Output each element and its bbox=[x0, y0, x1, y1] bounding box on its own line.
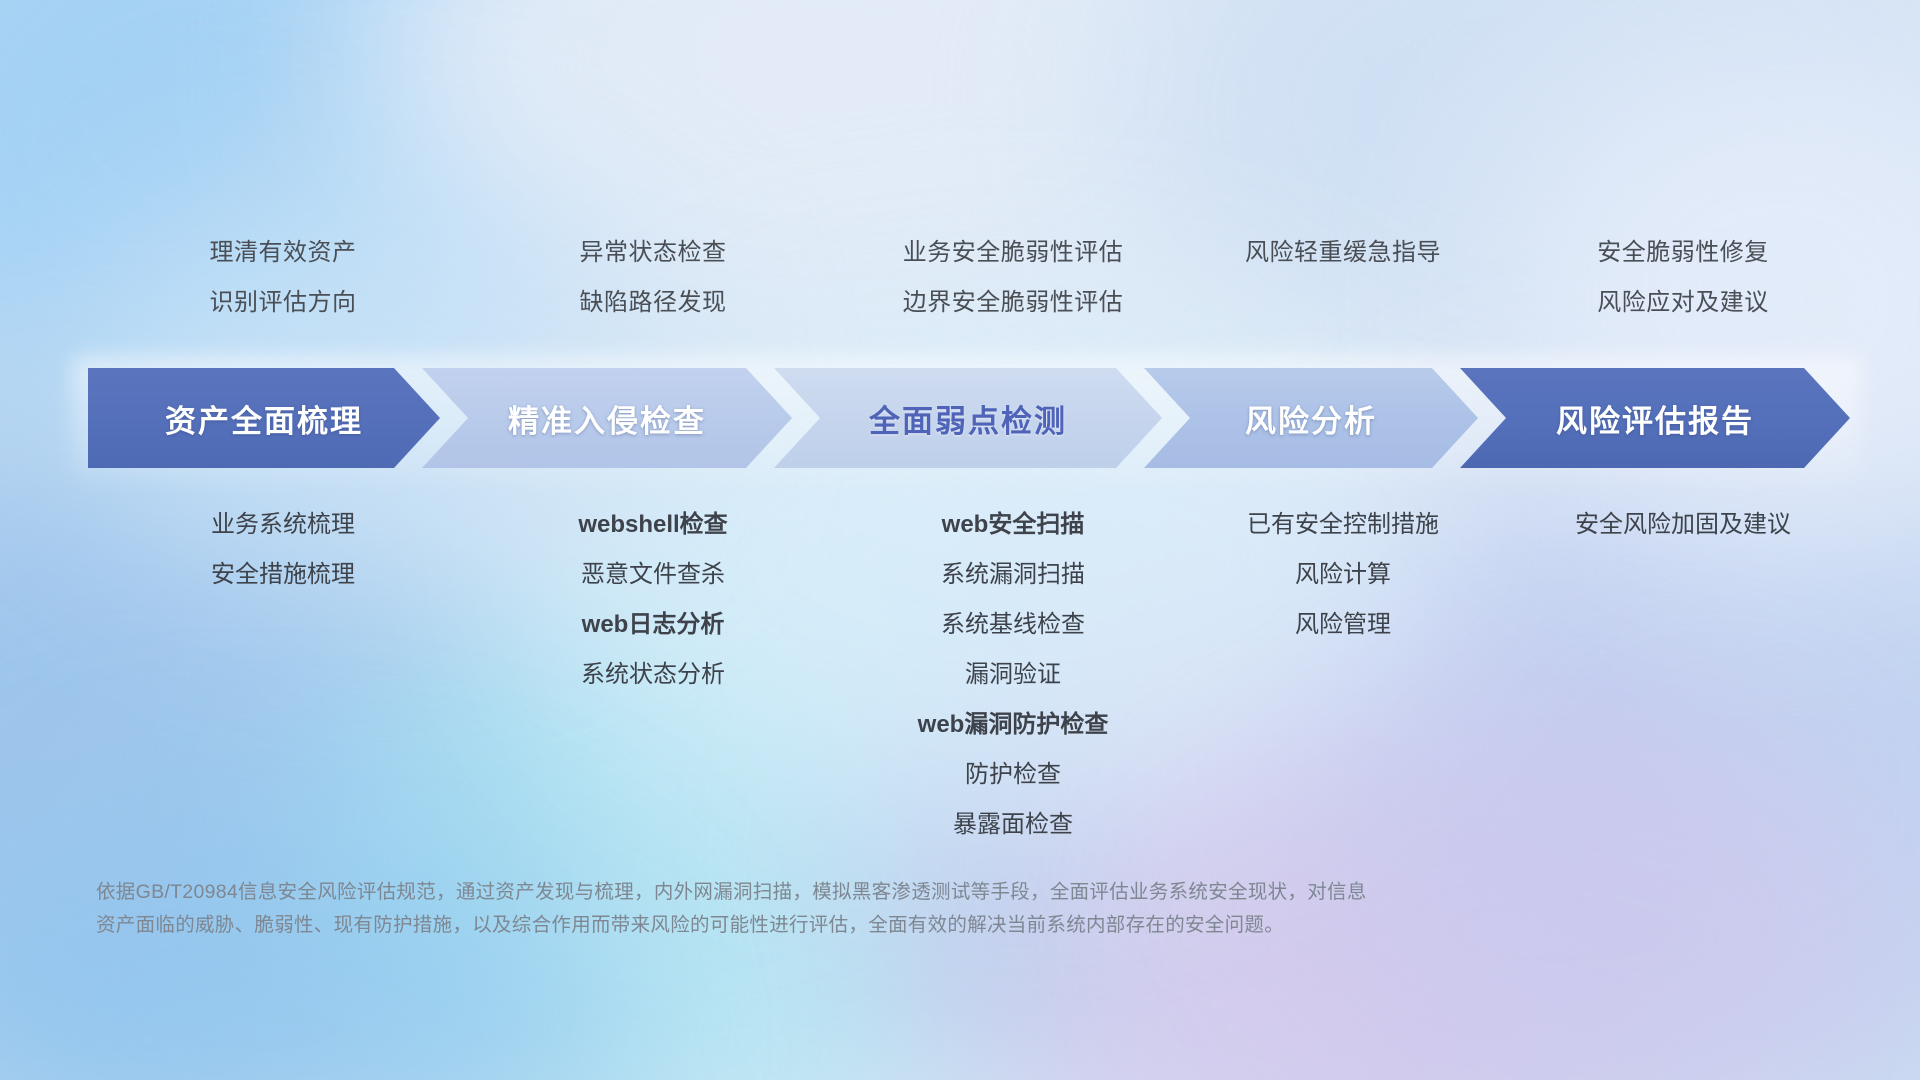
list-item: 系统基线检查 bbox=[828, 600, 1198, 650]
stage-label: 精准入侵检查 bbox=[508, 396, 706, 441]
top-caption: 业务安全脆弱性评估 bbox=[828, 228, 1198, 278]
top-captions-stage-4: 风险轻重缓急指导 bbox=[1198, 228, 1488, 328]
top-captions-stage-5: 安全脆弱性修复 风险应对及建议 bbox=[1488, 228, 1878, 328]
footer-description: 依据GB/T20984信息安全风险评估规范，通过资产发现与梳理，内外网漏洞扫描，… bbox=[96, 876, 1596, 942]
stage-label: 全面弱点检测 bbox=[869, 396, 1067, 441]
list-item: web安全扫描 bbox=[828, 500, 1198, 550]
footer-line-1: 依据GB/T20984信息安全风险评估规范，通过资产发现与梳理，内外网漏洞扫描，… bbox=[96, 876, 1596, 909]
list-item: 安全措施梳理 bbox=[88, 550, 478, 600]
stage-detail-lists: 业务系统梳理 安全措施梳理 webshell检查 恶意文件查杀 web日志分析 … bbox=[88, 500, 1878, 850]
detail-list-stage-4: 已有安全控制措施 风险计算 风险管理 bbox=[1198, 500, 1488, 850]
detail-list-stage-2: webshell检查 恶意文件查杀 web日志分析 系统状态分析 bbox=[478, 500, 828, 850]
stage-chevron-2[interactable]: 精准入侵检查 bbox=[422, 368, 792, 468]
detail-list-stage-5: 安全风险加固及建议 bbox=[1488, 500, 1878, 850]
chevron-band: 资产全面梳理 精准入侵检查 全面弱点检测 风险分析 风险评估报告 bbox=[88, 368, 1850, 468]
detail-list-stage-1: 业务系统梳理 安全措施梳理 bbox=[88, 500, 478, 850]
list-item: web漏洞防护检查 bbox=[828, 700, 1198, 750]
list-item: 业务系统梳理 bbox=[88, 500, 478, 550]
stage-chevron-1[interactable]: 资产全面梳理 bbox=[88, 368, 440, 468]
top-caption: 异常状态检查 bbox=[478, 228, 828, 278]
list-item: 防护检查 bbox=[828, 750, 1198, 800]
detail-list-stage-3: web安全扫描 系统漏洞扫描 系统基线检查 漏洞验证 web漏洞防护检查 防护检… bbox=[828, 500, 1198, 850]
top-caption: 安全脆弱性修复 bbox=[1488, 228, 1878, 278]
list-item: 风险计算 bbox=[1198, 550, 1488, 600]
list-item: 安全风险加固及建议 bbox=[1488, 500, 1878, 550]
stage-chevron-5[interactable]: 风险评估报告 bbox=[1460, 368, 1850, 468]
footer-line-2: 资产面临的威胁、脆弱性、现有防护措施，以及综合作用而带来风险的可能性进行评估，全… bbox=[96, 909, 1596, 942]
list-item: webshell检查 bbox=[478, 500, 828, 550]
infographic-canvas: 理清有效资产 识别评估方向 异常状态检查 缺陷路径发现 业务安全脆弱性评估 边界… bbox=[0, 0, 1920, 1080]
list-item: 漏洞验证 bbox=[828, 650, 1198, 700]
stage-label: 资产全面梳理 bbox=[165, 396, 363, 441]
top-captions-stage-2: 异常状态检查 缺陷路径发现 bbox=[478, 228, 828, 328]
top-caption: 边界安全脆弱性评估 bbox=[828, 278, 1198, 328]
top-caption: 风险轻重缓急指导 bbox=[1198, 228, 1488, 278]
stage-chevron-3[interactable]: 全面弱点检测 bbox=[774, 368, 1162, 468]
stage-chevron-4[interactable]: 风险分析 bbox=[1144, 368, 1478, 468]
top-caption: 缺陷路径发现 bbox=[478, 278, 828, 328]
list-item: 已有安全控制措施 bbox=[1198, 500, 1488, 550]
top-captions-stage-3: 业务安全脆弱性评估 边界安全脆弱性评估 bbox=[828, 228, 1198, 328]
list-item: 风险管理 bbox=[1198, 600, 1488, 650]
top-caption: 风险应对及建议 bbox=[1488, 278, 1878, 328]
list-item: 系统漏洞扫描 bbox=[828, 550, 1198, 600]
top-captions-row: 理清有效资产 识别评估方向 异常状态检查 缺陷路径发现 业务安全脆弱性评估 边界… bbox=[0, 228, 1920, 328]
list-item: 暴露面检查 bbox=[828, 800, 1198, 850]
list-item: 系统状态分析 bbox=[478, 650, 828, 700]
top-caption: 理清有效资产 bbox=[88, 228, 478, 278]
list-item: web日志分析 bbox=[478, 600, 828, 650]
stage-label: 风险分析 bbox=[1245, 396, 1377, 441]
top-caption: 识别评估方向 bbox=[88, 278, 478, 328]
list-item: 恶意文件查杀 bbox=[478, 550, 828, 600]
stage-label: 风险评估报告 bbox=[1556, 396, 1754, 441]
top-captions-stage-1: 理清有效资产 识别评估方向 bbox=[88, 228, 478, 328]
